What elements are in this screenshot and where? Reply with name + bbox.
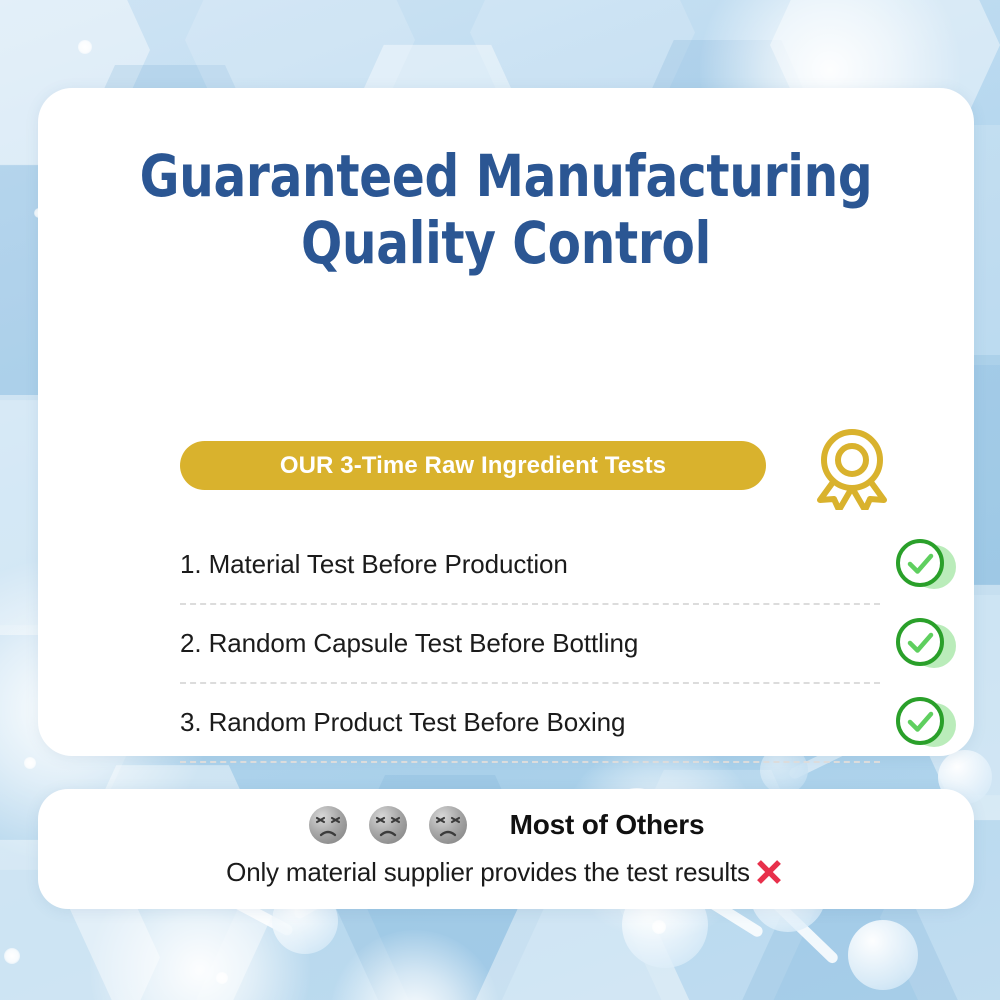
competitor-heading-label: Most of Others <box>510 809 705 841</box>
bokeh-dot <box>216 972 228 984</box>
bokeh-dot <box>24 757 36 769</box>
bokeh-dot <box>78 40 92 54</box>
list-item: 3. Random Product Test Before Boxing <box>180 684 880 763</box>
red-x-mark-icon <box>752 855 786 889</box>
page-title: Guaranteed Manufacturing Quality Control <box>71 143 941 278</box>
list-item: 2. Random Capsule Test Before Bottling <box>180 605 880 684</box>
list-item-label: 3. Random Product Test Before Boxing <box>180 707 625 738</box>
competitor-note-row: Only material supplier provides the test… <box>38 855 974 889</box>
test-list: 1. Material Test Before Production 2. Ra… <box>180 526 880 763</box>
competitor-comparison-card: Most of Others Only material supplier pr… <box>38 789 974 909</box>
green-check-circle-icon <box>894 537 962 593</box>
raw-ingredient-tests-banner: OUR 3-Time Raw Ingredient Tests <box>180 441 766 490</box>
green-check-circle-icon <box>894 616 962 672</box>
list-item-label: 2. Random Capsule Test Before Bottling <box>180 628 638 659</box>
page-title-line-1: Guaranteed Manufacturing <box>71 143 941 210</box>
page-root: Guaranteed Manufacturing Quality Control… <box>0 0 1000 1000</box>
competitor-comparison-heading-row: Most of Others <box>38 805 974 845</box>
bokeh-dot <box>652 920 666 934</box>
award-ribbon-icon <box>808 424 896 510</box>
raw-ingredient-tests-banner-label: OUR 3-Time Raw Ingredient Tests <box>280 452 666 480</box>
sad-face-icon <box>368 805 408 845</box>
sad-face-icon <box>428 805 468 845</box>
bokeh-dot <box>4 948 20 964</box>
list-item-label: 1. Material Test Before Production <box>180 549 568 580</box>
competitor-note-label: Only material supplier provides the test… <box>226 857 750 888</box>
molecule-node <box>848 920 918 990</box>
list-item: 1. Material Test Before Production <box>180 526 880 605</box>
sad-face-icon <box>308 805 348 845</box>
green-check-circle-icon <box>894 695 962 751</box>
page-title-line-2: Quality Control <box>71 210 941 277</box>
quality-control-card: Guaranteed Manufacturing Quality Control… <box>38 88 974 756</box>
